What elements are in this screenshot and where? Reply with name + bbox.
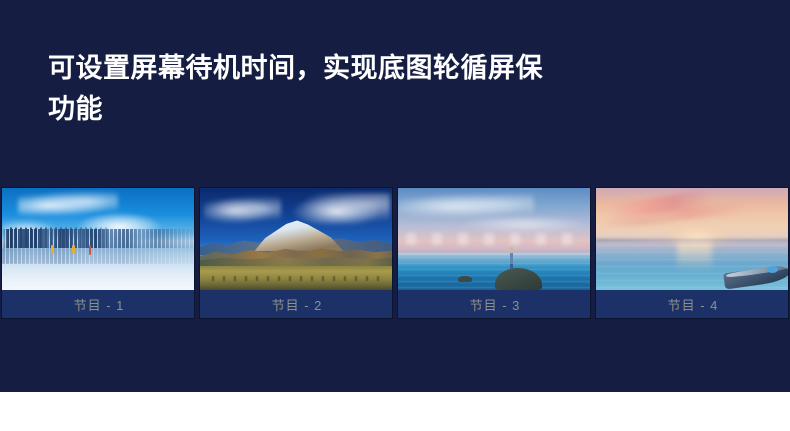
thumbnail-caption-1: 节目 - 1 xyxy=(2,290,194,318)
thumbnail-city-skyline xyxy=(2,188,194,290)
page-title: 可设置屏幕待机时间，实现底图轮循屏保 功能 xyxy=(48,48,748,130)
thumbnail-sunset-boat xyxy=(596,188,788,290)
feature-panel: 可设置屏幕待机时间，实现底图轮循屏保 功能 节目 - 1 xyxy=(0,0,790,392)
screensaver-thumbnail-1[interactable]: 节目 - 1 xyxy=(2,188,194,318)
thumbnail-snow-mountain xyxy=(200,188,392,290)
screensaver-thumbnail-strip: 节目 - 1 节目 - 2 xyxy=(2,188,788,318)
screensaver-thumbnail-4[interactable]: 节目 - 4 xyxy=(596,188,788,318)
thumbnail-caption-3: 节目 - 3 xyxy=(398,290,590,318)
thumbnail-seaside xyxy=(398,188,590,290)
screensaver-thumbnail-3[interactable]: 节目 - 3 xyxy=(398,188,590,318)
thumbnail-caption-2: 节目 - 2 xyxy=(200,290,392,318)
screensaver-thumbnail-2[interactable]: 节目 - 2 xyxy=(200,188,392,318)
thumbnail-caption-4: 节目 - 4 xyxy=(596,290,788,318)
